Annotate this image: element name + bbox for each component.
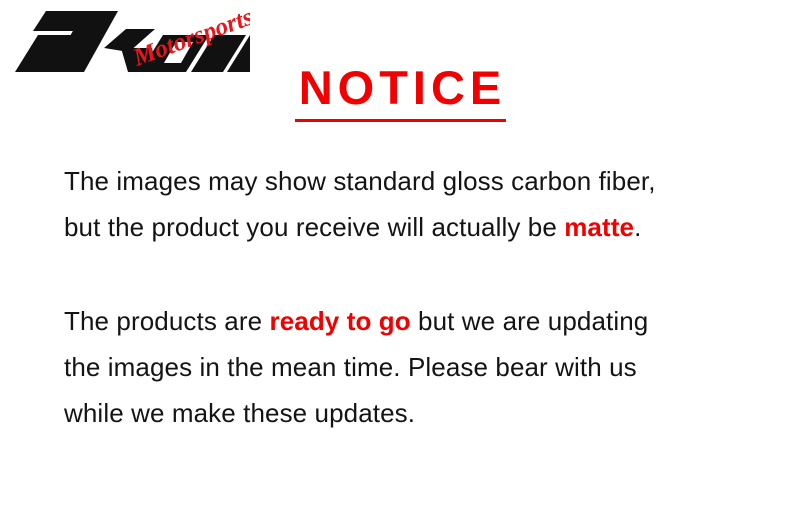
notice-paragraph-1: The images may show standard gloss carbo…	[64, 158, 764, 250]
notice-text-segment: but we are updating	[411, 306, 649, 336]
notice-text-segment: but the product you receive will actuall…	[64, 212, 564, 242]
notice-text-segment: The images may show standard gloss carbo…	[64, 166, 656, 196]
paragraph-spacer	[64, 250, 764, 298]
notice-line: but the product you receive will actuall…	[64, 204, 764, 250]
page-title: NOTICE	[260, 62, 540, 114]
notice-line: while we make these updates.	[64, 390, 764, 436]
notice-paragraph-2: The products are ready to go but we are …	[64, 298, 764, 436]
notice-line: the images in the mean time. Please bear…	[64, 344, 764, 390]
notice-line: The products are ready to go but we are …	[64, 298, 764, 344]
notice-text-segment: the images in the mean time. Please bear…	[64, 352, 637, 382]
heading-underline	[295, 119, 506, 122]
brand-logo: ikon Motorsports	[0, 4, 250, 78]
highlight-matte: matte	[564, 212, 634, 242]
ikon-motorsports-logo-graphic: ikon Motorsports	[0, 4, 250, 78]
notice-body: The images may show standard gloss carbo…	[64, 158, 764, 436]
notice-text-segment: The products are	[64, 306, 269, 336]
notice-banner: ikon Motorsports	[0, 0, 800, 510]
highlight-ready-to-go: ready to go	[269, 306, 410, 336]
notice-line: The images may show standard gloss carbo…	[64, 158, 764, 204]
notice-heading-block: NOTICE	[260, 62, 540, 122]
notice-text-segment: .	[634, 212, 641, 242]
notice-text-segment: while we make these updates.	[64, 398, 415, 428]
